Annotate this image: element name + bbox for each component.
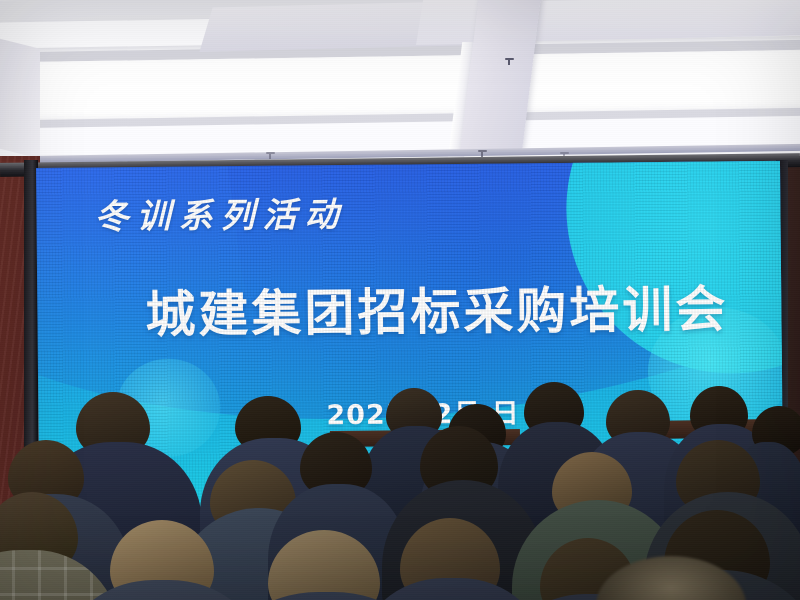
- seated-audience: [0, 380, 800, 600]
- conference-hall-photo: 冬训系列活动 城建集团招标采购培训会 2023年2月 日: [0, 0, 800, 600]
- sprinkler-icon: [505, 58, 514, 66]
- coffered-ceiling: [0, 0, 800, 165]
- ceiling-beam-right: [523, 0, 800, 41]
- screen-subtitle: 冬训系列活动: [94, 187, 346, 238]
- screen-title: 城建集团招标采购培训会: [145, 269, 729, 347]
- ceiling-corner: [0, 31, 40, 158]
